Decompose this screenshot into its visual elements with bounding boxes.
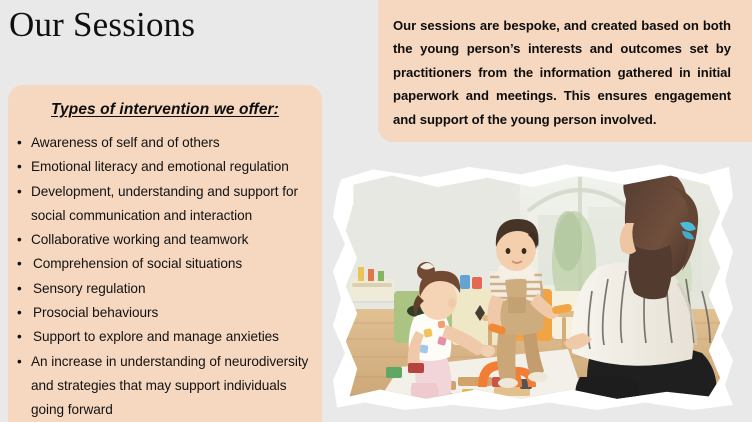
list-item-label: An increase in understanding of neurodiv… xyxy=(31,354,308,418)
bespoke-paragraph: Our sessions are bespoke, and created ba… xyxy=(393,14,731,131)
bullet-icon: • xyxy=(17,325,22,349)
intervention-heading: Types of intervention we offer: xyxy=(8,101,322,119)
bullet-icon: • xyxy=(17,131,22,155)
bullet-icon: • xyxy=(17,155,22,179)
list-item-label: Awareness of self and of others xyxy=(31,135,220,150)
bullet-icon: • xyxy=(17,350,22,374)
bullet-icon: • xyxy=(17,180,22,204)
list-item: • Development, understanding and support… xyxy=(14,180,320,229)
list-item-label: Support to explore and manage anxieties xyxy=(33,329,279,344)
list-item: • Awareness of self and of others xyxy=(14,131,320,155)
list-item: • Emotional literacy and emotional regul… xyxy=(14,155,320,179)
photo-image xyxy=(342,171,724,401)
list-item: • Prosocial behaviours xyxy=(14,301,320,325)
list-item-label: Comprehension of social situations xyxy=(33,256,242,271)
list-item-label: Emotional literacy and emotional regulat… xyxy=(31,159,289,174)
list-item-label: Sensory regulation xyxy=(33,281,145,296)
bullet-icon: • xyxy=(17,301,22,325)
bullet-icon: • xyxy=(17,228,22,252)
session-photo xyxy=(333,162,733,410)
slide-canvas: Our Sessions Types of intervention we of… xyxy=(0,0,752,422)
list-item: • An increase in understanding of neurod… xyxy=(14,350,320,422)
list-item-label: Collaborative working and teamwork xyxy=(31,232,248,247)
list-item: • Support to explore and manage anxietie… xyxy=(14,325,320,349)
list-item: • Sensory regulation xyxy=(14,277,320,301)
list-item-label: Prosocial behaviours xyxy=(33,305,158,320)
intervention-list: • Awareness of self and of others • Emot… xyxy=(14,131,320,422)
page-title: Our Sessions xyxy=(9,3,195,47)
list-item: • Collaborative working and teamwork xyxy=(14,228,320,252)
bullet-icon: • xyxy=(17,277,22,301)
intervention-panel: Types of intervention we offer: • Awaren… xyxy=(8,85,322,422)
list-item-label: Development, understanding and support f… xyxy=(31,184,298,223)
bespoke-text-box: Our sessions are bespoke, and created ba… xyxy=(378,0,752,142)
list-item: • Comprehension of social situations xyxy=(14,252,320,276)
bullet-icon: • xyxy=(17,252,22,276)
